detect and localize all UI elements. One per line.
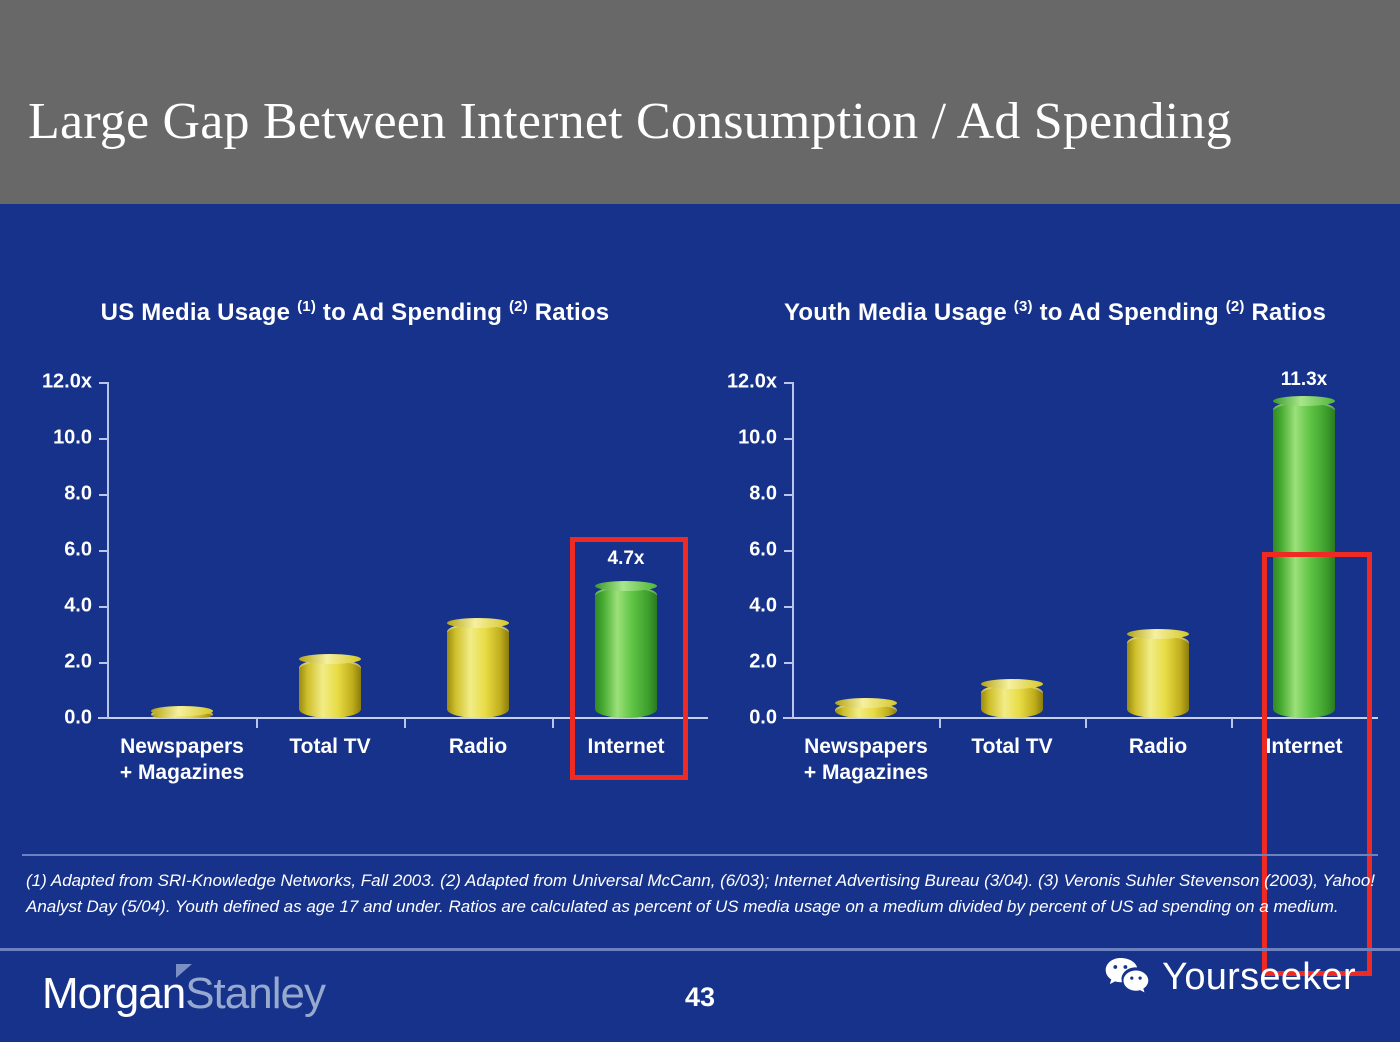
x-label-total-tv: Total TV xyxy=(289,734,370,760)
x-tick xyxy=(256,718,258,728)
bar-radio xyxy=(447,623,509,718)
y-tick-label: 2.0 xyxy=(64,651,92,674)
y-tick xyxy=(784,662,793,664)
highlight-box-internet-left xyxy=(570,537,688,780)
y-tick-label: 6.0 xyxy=(64,539,92,562)
y-tick xyxy=(99,717,108,719)
y-tick-label: 12.0x xyxy=(42,371,92,394)
y-tick xyxy=(99,662,108,664)
bar-cap xyxy=(981,679,1043,689)
chart-title-youth-media-usage: Youth Media Usage (3) to Ad Spending (2)… xyxy=(710,289,1400,330)
y-tick xyxy=(784,494,793,496)
y-tick-label: 8.0 xyxy=(749,483,777,506)
bar-newspapers-magazines xyxy=(835,703,897,718)
footnote-ref-1: (1) xyxy=(297,298,316,315)
x-tick xyxy=(1231,718,1233,728)
y-tick-label: 10.0 xyxy=(53,427,92,450)
bar-cap xyxy=(151,706,213,716)
y-tick-label: 0.0 xyxy=(64,707,92,730)
bar-cap xyxy=(835,698,897,708)
x-tick xyxy=(404,718,406,728)
bar-cap xyxy=(447,618,509,628)
bar-cap xyxy=(1273,396,1335,406)
footnote-ref-2: (2) xyxy=(1226,298,1245,315)
footer-divider xyxy=(0,948,1400,951)
y-tick-label: 8.0 xyxy=(64,483,92,506)
x-label-line: + Magazines xyxy=(804,760,928,786)
bar-total-tv xyxy=(299,659,361,718)
y-tick xyxy=(784,606,793,608)
y-tick-label: 12.0x xyxy=(727,371,777,394)
y-tick-label: 2.0 xyxy=(749,651,777,674)
wechat-icon xyxy=(1104,956,1150,999)
chart-title-segment: to Ad Spending xyxy=(1033,299,1226,326)
footnote-text: (1) Adapted from SRI-Knowledge Networks,… xyxy=(26,868,1376,920)
brand-name: Yourseeker xyxy=(1162,956,1356,999)
y-tick-label: 4.0 xyxy=(749,595,777,618)
y-tick xyxy=(99,550,108,552)
x-tick xyxy=(939,718,941,728)
bar-cap xyxy=(1127,629,1189,639)
bar-cap xyxy=(299,654,361,664)
footnote-ref-2: (2) xyxy=(509,298,528,315)
y-tick-label: 10.0 xyxy=(738,427,777,450)
bar-radio xyxy=(1127,634,1189,718)
x-label-radio: Radio xyxy=(1129,734,1187,760)
y-tick xyxy=(99,606,108,608)
y-tick xyxy=(99,494,108,496)
y-tick xyxy=(99,438,108,440)
chart-title-segment: US Media Usage xyxy=(101,299,297,326)
x-label-line: + Magazines xyxy=(120,760,244,786)
x-label-line: Newspapers xyxy=(120,734,244,760)
x-label-radio: Radio xyxy=(449,734,507,760)
footnote-ref-3: (3) xyxy=(1014,298,1033,315)
brand-badge: Yourseeker xyxy=(1104,956,1356,999)
chart-title-segment: Ratios xyxy=(528,299,609,326)
y-tick xyxy=(784,438,793,440)
page-title: Large Gap Between Internet Consumption /… xyxy=(28,92,1378,151)
x-tick xyxy=(552,718,554,728)
y-tick-label: 0.0 xyxy=(749,707,777,730)
bar-total-tv xyxy=(981,684,1043,718)
footnote-divider xyxy=(22,854,1378,856)
chart-title-segment: Youth Media Usage xyxy=(784,299,1014,326)
y-tick xyxy=(99,382,108,384)
bar-value-internet: 11.3x xyxy=(1281,369,1328,391)
morgan-stanley-triangle-icon xyxy=(176,964,192,978)
x-label-newspapers-magazines: Newspapers + Magazines xyxy=(120,734,244,786)
y-tick xyxy=(784,382,793,384)
y-tick-label: 4.0 xyxy=(64,595,92,618)
y-tick-label: 6.0 xyxy=(749,539,777,562)
bar-newspapers-magazines xyxy=(151,711,213,718)
chart-title-segment: Ratios xyxy=(1245,299,1326,326)
y-tick xyxy=(784,550,793,552)
slide-body: US Media Usage (1) to Ad Spending (2) Ra… xyxy=(0,204,1400,1042)
x-label-newspapers-magazines: Newspapers + Magazines xyxy=(804,734,928,786)
chart-title-us-media-usage: US Media Usage (1) to Ad Spending (2) Ra… xyxy=(0,289,710,330)
x-label-line: Newspapers xyxy=(804,734,928,760)
x-tick xyxy=(1085,718,1087,728)
x-label-total-tv: Total TV xyxy=(971,734,1052,760)
y-tick xyxy=(784,717,793,719)
chart-title-segment: to Ad Spending xyxy=(316,299,509,326)
